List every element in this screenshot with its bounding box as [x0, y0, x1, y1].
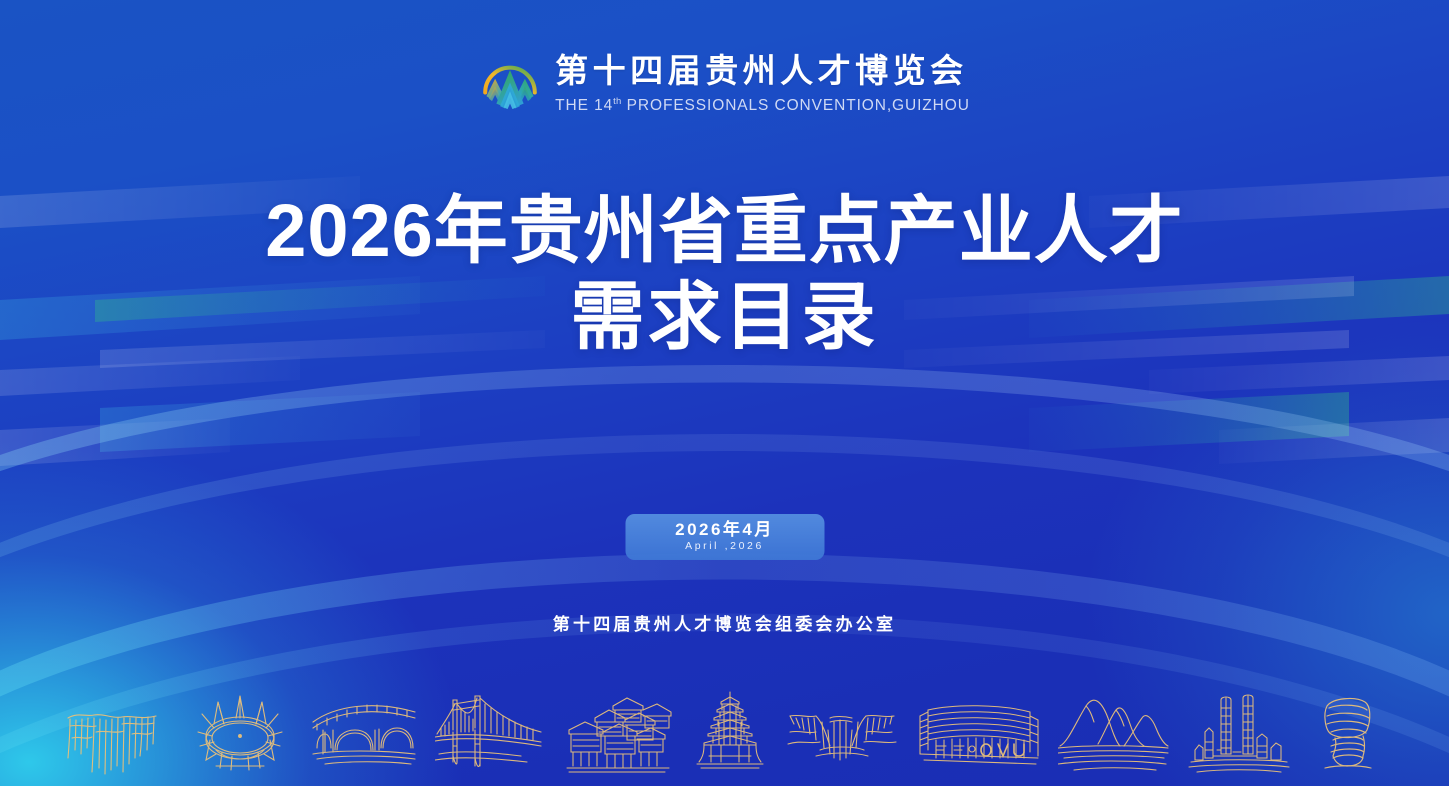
date-badge: 2026年4月 April ,2026: [625, 514, 824, 560]
title-line-2: 需求目录: [0, 274, 1449, 360]
landmark-canyon-waterfall-icon: [786, 688, 898, 780]
landmark-stone-rock-formation-icon: [1307, 688, 1387, 780]
landmark-mountain-lake-icon: [1058, 688, 1170, 780]
landmark-convention-center-ovu-icon: [914, 688, 1042, 780]
background-decoration: [0, 0, 1449, 786]
date-badge-en: April ,2026: [685, 541, 764, 553]
logo-en-prefix: THE 14: [555, 97, 613, 114]
landmark-twin-towers-icon: [1187, 688, 1291, 780]
landmark-fast-radio-telescope-icon: [186, 688, 294, 780]
expo-emblem-icon: [479, 54, 541, 116]
landmark-stone-arch-bridge-icon: [311, 688, 419, 780]
logo-en-rest: PROFESSIONALS CONVENTION,GUIZHOU: [621, 97, 969, 114]
date-badge-cn: 2026年4月: [675, 521, 774, 540]
event-logo: 第十四届贵州人才博览会 THE 14th PROFESSIONALS CONVE…: [0, 52, 1449, 116]
landmark-strip: [0, 676, 1449, 786]
page-title: 2026年贵州省重点产业人才 需求目录: [0, 188, 1449, 360]
landmark-huangguoshu-waterfall-icon: [62, 688, 170, 780]
organizer-text: 第十四届贵州人才博览会组委会办公室: [0, 610, 1449, 635]
title-line-1: 2026年贵州省重点产业人才: [0, 188, 1449, 274]
poster-root: 第十四届贵州人才博览会 THE 14th PROFESSIONALS CONVE…: [0, 0, 1449, 786]
landmark-miao-stilt-village-icon: [559, 688, 675, 780]
logo-title-cn: 第十四届贵州人才博览会: [555, 52, 970, 90]
landmark-dong-drum-tower-icon: [691, 688, 769, 780]
landmark-suspension-bridge-icon: [435, 688, 543, 780]
logo-title-en: THE 14th PROFESSIONALS CONVENTION,GUIZHO…: [555, 96, 970, 116]
